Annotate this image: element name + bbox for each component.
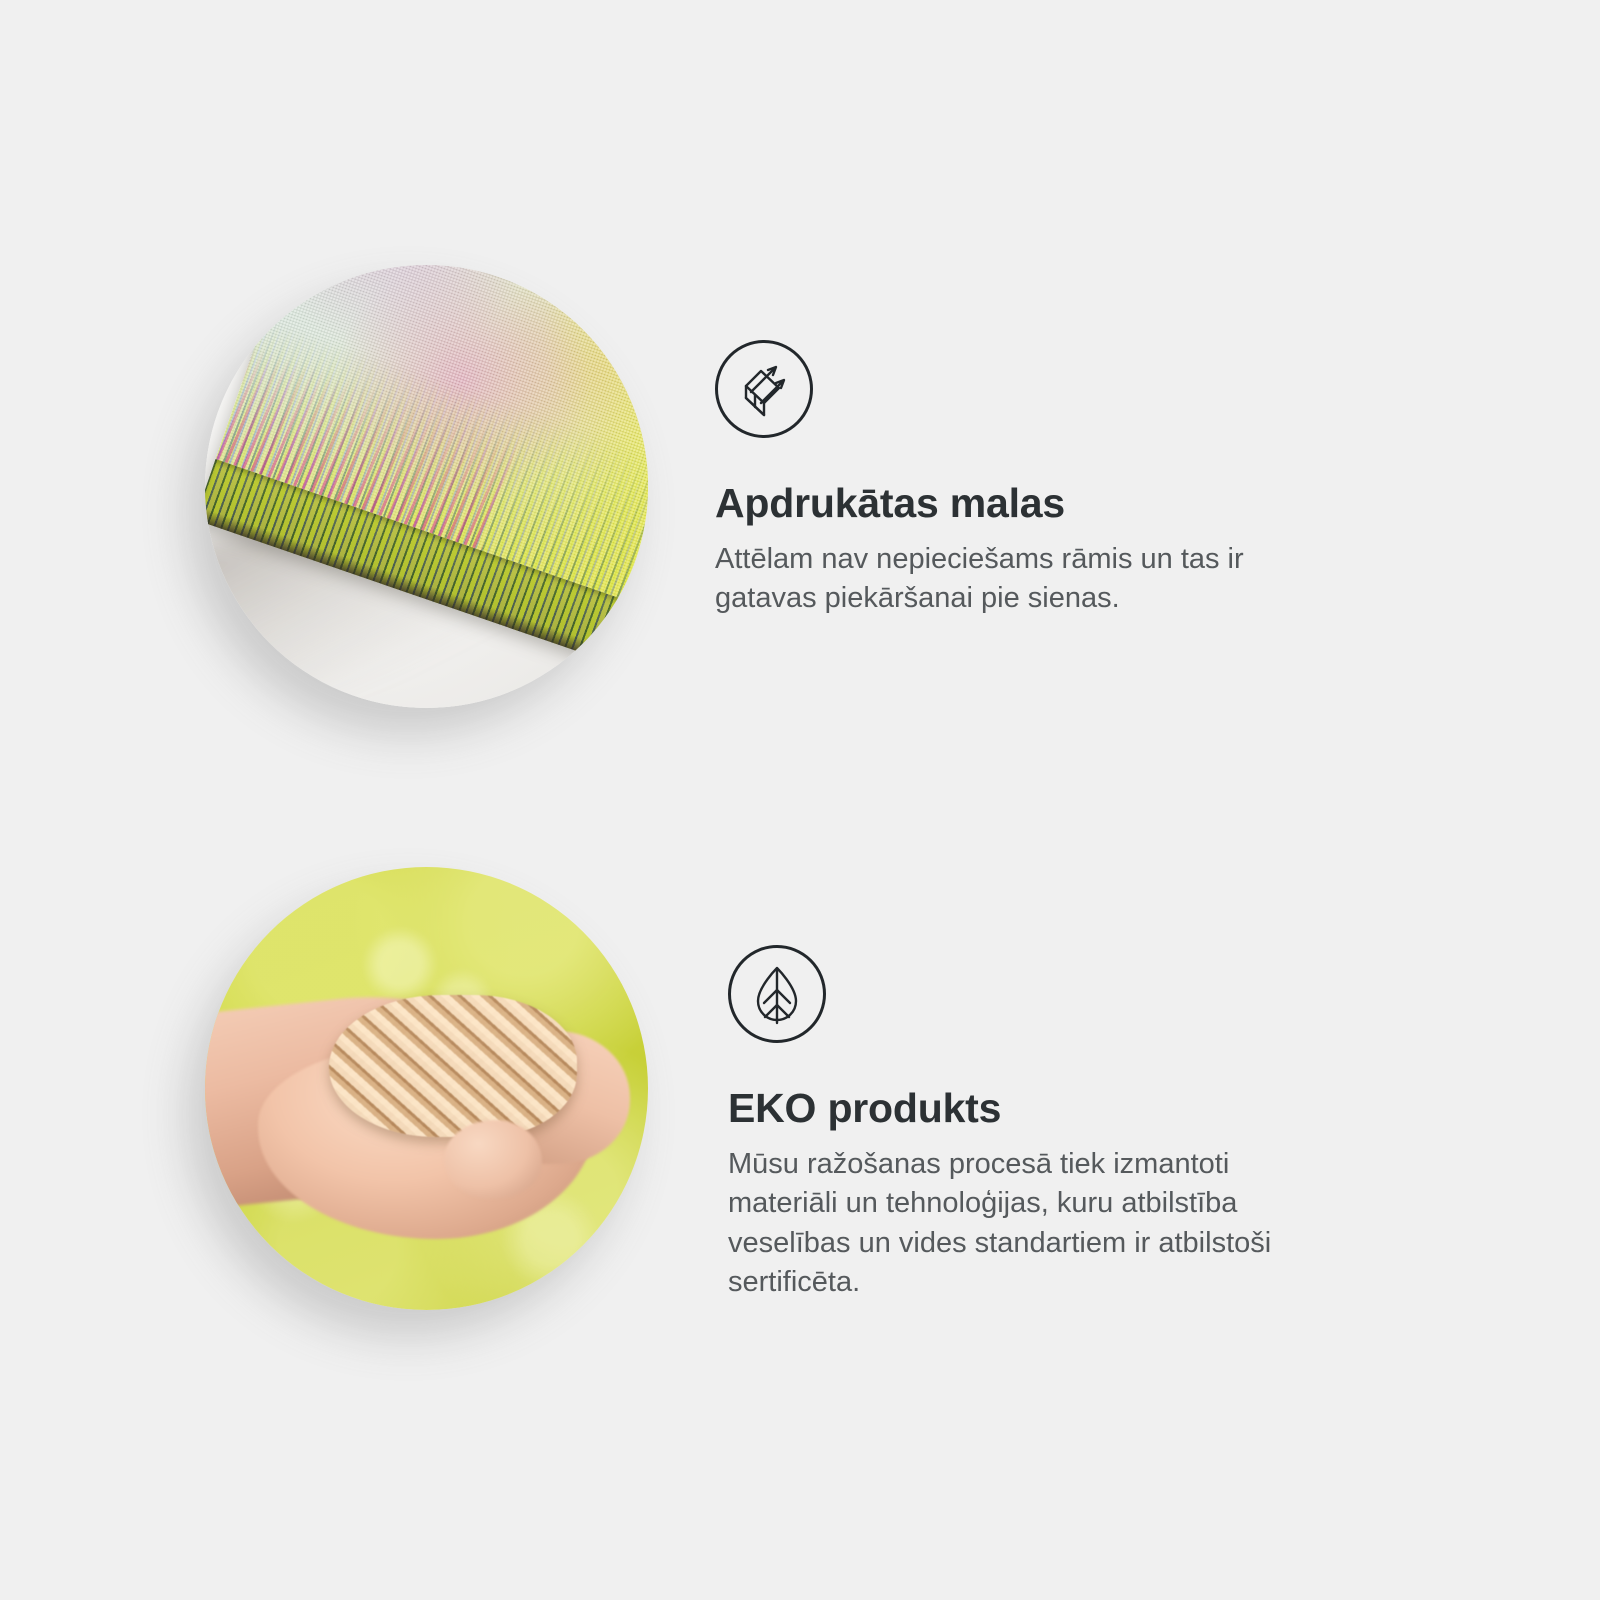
feature-description: Attēlam nav nepieciešams rāmis un tas ir… <box>715 540 1244 619</box>
text-column-printed-edges: Apdrukātas malas Attēlam nav nepieciešam… <box>715 240 1244 619</box>
wood-chips <box>329 995 577 1137</box>
text-column-eko-product: EKO produkts Mūsu ražošanas procesā tiek… <box>728 845 1271 1303</box>
feature-description-line: gatavas piekāršanai pie sienas. <box>715 579 1244 618</box>
feature-description-line: veselības un vides standartiem ir atbils… <box>728 1224 1271 1263</box>
feature-description-line: Mūsu ražošanas procesā tiek izmantoti <box>728 1145 1271 1184</box>
hand-holding-wood-chips-photo <box>205 867 648 1310</box>
feature-description-line: sertificēta. <box>728 1263 1271 1302</box>
leaf-glyph <box>748 963 806 1025</box>
feature-description: Mūsu ražošanas procesā tiek izmantoti ma… <box>728 1145 1271 1303</box>
wrapped-canvas-edge-icon <box>715 340 813 438</box>
thumb <box>444 1120 541 1200</box>
feature-block-eko-product: EKO produkts Mūsu ražošanas procesā tiek… <box>0 845 1600 1303</box>
wrapped-canvas-edge-glyph <box>733 358 795 420</box>
feature-title: EKO produkts <box>728 1085 1271 1132</box>
canvas-print-corner-photo <box>205 265 648 708</box>
feature-title: Apdrukātas malas <box>715 480 1244 527</box>
feature-block-printed-edges: Apdrukātas malas Attēlam nav nepieciešam… <box>0 240 1600 619</box>
feature-description-line: Attēlam nav nepieciešams rāmis un tas ir <box>715 540 1244 579</box>
feature-description-line: materiāli un tehnoloģijas, kuru atbilstī… <box>728 1184 1271 1223</box>
leaf-icon <box>728 945 826 1043</box>
